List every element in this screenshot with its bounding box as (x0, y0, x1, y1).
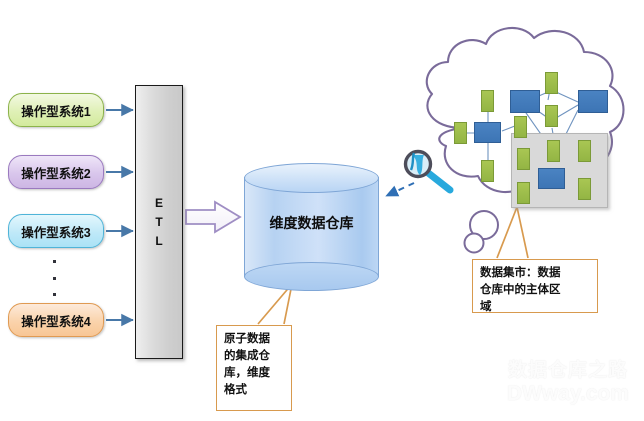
etl-process-box[interactable]: E T L (135, 85, 183, 359)
network-node-green (578, 140, 591, 162)
feed-arrows (106, 110, 133, 320)
cylinder-top-ellipse (244, 163, 379, 193)
network-node-green (578, 178, 591, 200)
warehouse-callout: 原子数据 的集成仓 库，维度 格式 (216, 325, 292, 411)
network-node-blue (474, 122, 501, 143)
watermark: 数据仓库之路 DWway.com (498, 360, 638, 406)
network-node-green (481, 160, 494, 182)
network-node-green (454, 122, 467, 144)
network-node-blue (538, 168, 565, 189)
vertical-ellipsis (51, 260, 57, 296)
data-warehouse-label: 维度数据仓库 (244, 213, 379, 233)
etl-to-warehouse-arrow (186, 202, 240, 232)
source-system-3[interactable]: 操作型系统3 (8, 214, 104, 248)
etl-letter-t: T (155, 213, 162, 232)
network-node-blue (510, 90, 540, 113)
source-system-1-label: 操作型系统1 (21, 101, 90, 120)
data-mart-callout: 数据集市：数据 仓库中的主体区 域 (472, 259, 598, 313)
network-node-green (545, 105, 558, 127)
source-system-3-label: 操作型系统3 (21, 222, 90, 241)
network-node-green (547, 140, 560, 162)
diagram-canvas: 操作型系统1 操作型系统2 操作型系统3 操作型系统4 E T L 维度数据仓库… (0, 0, 644, 421)
source-system-2[interactable]: 操作型系统2 (8, 155, 104, 189)
watermark-line-2: DWway.com (498, 382, 638, 406)
data-mart-callout-line-3: 域 (480, 299, 590, 316)
cylinder-bottom-ellipse (244, 262, 379, 291)
warehouse-callout-line-1: 原子数据 (224, 331, 285, 348)
ellipsis-dot (53, 260, 56, 263)
network-node-green (545, 72, 558, 94)
dashed-link-arrow (386, 183, 414, 196)
source-system-1[interactable]: 操作型系统1 (8, 93, 104, 127)
etl-letter-l: L (155, 232, 162, 251)
network-node-green (517, 182, 530, 204)
network-node-blue (578, 90, 608, 113)
data-mart-callout-line-1: 数据集市：数据 (480, 265, 590, 282)
data-mart-callout-leader (497, 207, 528, 258)
ellipsis-dot (53, 277, 56, 280)
ellipsis-dot (53, 293, 56, 296)
network-node-green (481, 90, 494, 112)
warehouse-callout-line-3: 库，维度 (224, 365, 285, 382)
network-node-green (517, 148, 530, 170)
warehouse-callout-line-4: 格式 (224, 382, 285, 399)
data-mart-callout-line-2: 仓库中的主体区 (480, 282, 590, 299)
network-node-green (514, 116, 527, 138)
source-system-4-label: 操作型系统4 (21, 311, 90, 330)
data-warehouse-cylinder[interactable]: 维度数据仓库 (244, 163, 379, 291)
etl-letter-e: E (155, 194, 163, 213)
source-system-4[interactable]: 操作型系统4 (8, 303, 104, 337)
source-system-2-label: 操作型系统2 (21, 163, 90, 182)
warehouse-callout-line-2: 的集成仓 (224, 348, 285, 365)
watermark-line-1: 数据仓库之路 (498, 360, 638, 382)
